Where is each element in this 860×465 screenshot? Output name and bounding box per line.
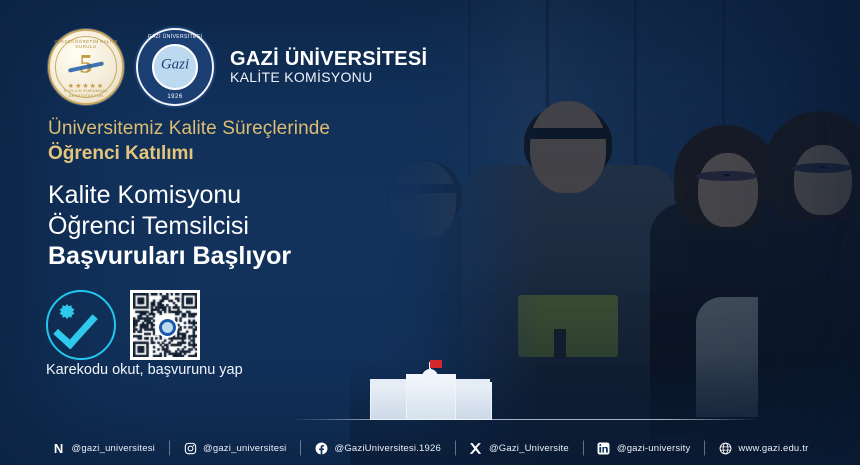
logo-lockup: YÜKSEKÖĞRETİM KALİTE KURULU 5 ★★★★★ 5 YI… — [48, 28, 427, 106]
facebook-icon — [314, 441, 328, 455]
gazi-university-seal-icon: GAZİ ÜNİVERSİTESİ Gazi 1926 — [136, 28, 214, 106]
headline: Kalite Komisyonu Öğrenci Temsilcisi Başv… — [48, 180, 291, 272]
kicker-text: Üniversitemiz Kalite Süreçlerinde Öğrenc… — [48, 118, 330, 165]
footer-item-label: www.gazi.edu.tr — [738, 443, 808, 454]
footer-item-x-twitter[interactable]: @Gazi_Universite — [455, 441, 583, 455]
kicker-line-1: Üniversitemiz Kalite Süreçlerinde — [48, 118, 330, 140]
check-badge-icon — [46, 290, 116, 360]
brand-line-1: GAZİ ÜNİVERSİTESİ — [230, 48, 427, 70]
headline-line-3: Başvuruları Başlıyor — [48, 241, 291, 272]
footer-item-facebook[interactable]: @GaziUniversitesi.1926 — [300, 441, 454, 455]
turkish-flag-icon — [430, 360, 442, 368]
footer-item-label: @gazi-university — [617, 443, 691, 454]
headline-line-1: Kalite Komisyonu — [48, 180, 291, 211]
footer-item-label: @gazi_universitesi — [72, 443, 155, 454]
footer-item-label: @Gazi_Universite — [489, 443, 569, 454]
seal-script: Gazi — [138, 56, 212, 73]
seal-ring-text: GAZİ ÜNİVERSİTESİ — [138, 34, 212, 40]
qr-call-to-action[interactable] — [46, 290, 200, 360]
medal-arc-top: YÜKSEKÖĞRETİM KALİTE KURULU — [50, 39, 122, 49]
kicker-line-2: Öğrenci Katılımı — [48, 143, 330, 165]
footer-item-label: @GaziUniversitesi.1926 — [334, 443, 440, 454]
instagram-icon — [183, 441, 197, 455]
nsosyal-icon: N — [52, 441, 66, 455]
footer-item-linkedin[interactable]: @gazi-university — [583, 441, 705, 455]
footer-item-nsosyal[interactable]: N@gazi_universitesi — [38, 441, 169, 455]
globe-icon — [718, 441, 732, 455]
qr-center-logo-icon — [157, 317, 178, 338]
x-twitter-icon — [469, 441, 483, 455]
brand-line-2: KALİTE KOMİSYONU — [230, 70, 427, 86]
medal-arc-bottom: 5 YILLIK KURUMSAL AKREDİTASYON — [50, 88, 122, 98]
divider-line — [290, 419, 760, 420]
promo-banner: YÜKSEKÖĞRETİM KALİTE KURULU 5 ★★★★★ 5 YI… — [0, 0, 860, 465]
yokak-accreditation-medal-icon: YÜKSEKÖĞRETİM KALİTE KURULU 5 ★★★★★ 5 YI… — [48, 29, 124, 105]
footer-item-instagram[interactable]: @gazi_universitesi — [169, 441, 300, 455]
social-footer: N@gazi_universitesi@gazi_universitesi@Ga… — [0, 431, 860, 465]
seal-year: 1926 — [138, 94, 212, 100]
footer-item-label: @gazi_universitesi — [203, 443, 286, 454]
headline-line-2: Öğrenci Temsilcisi — [48, 211, 291, 242]
gazi-rectorate-building-icon — [370, 368, 490, 420]
qr-code[interactable] — [130, 290, 200, 360]
brand-text: GAZİ ÜNİVERSİTESİ KALİTE KOMİSYONU — [230, 48, 427, 86]
qr-caption: Karekodu okut, başvurunu yap — [46, 362, 243, 378]
footer-item-globe[interactable]: www.gazi.edu.tr — [704, 441, 822, 455]
linkedin-icon — [597, 441, 611, 455]
